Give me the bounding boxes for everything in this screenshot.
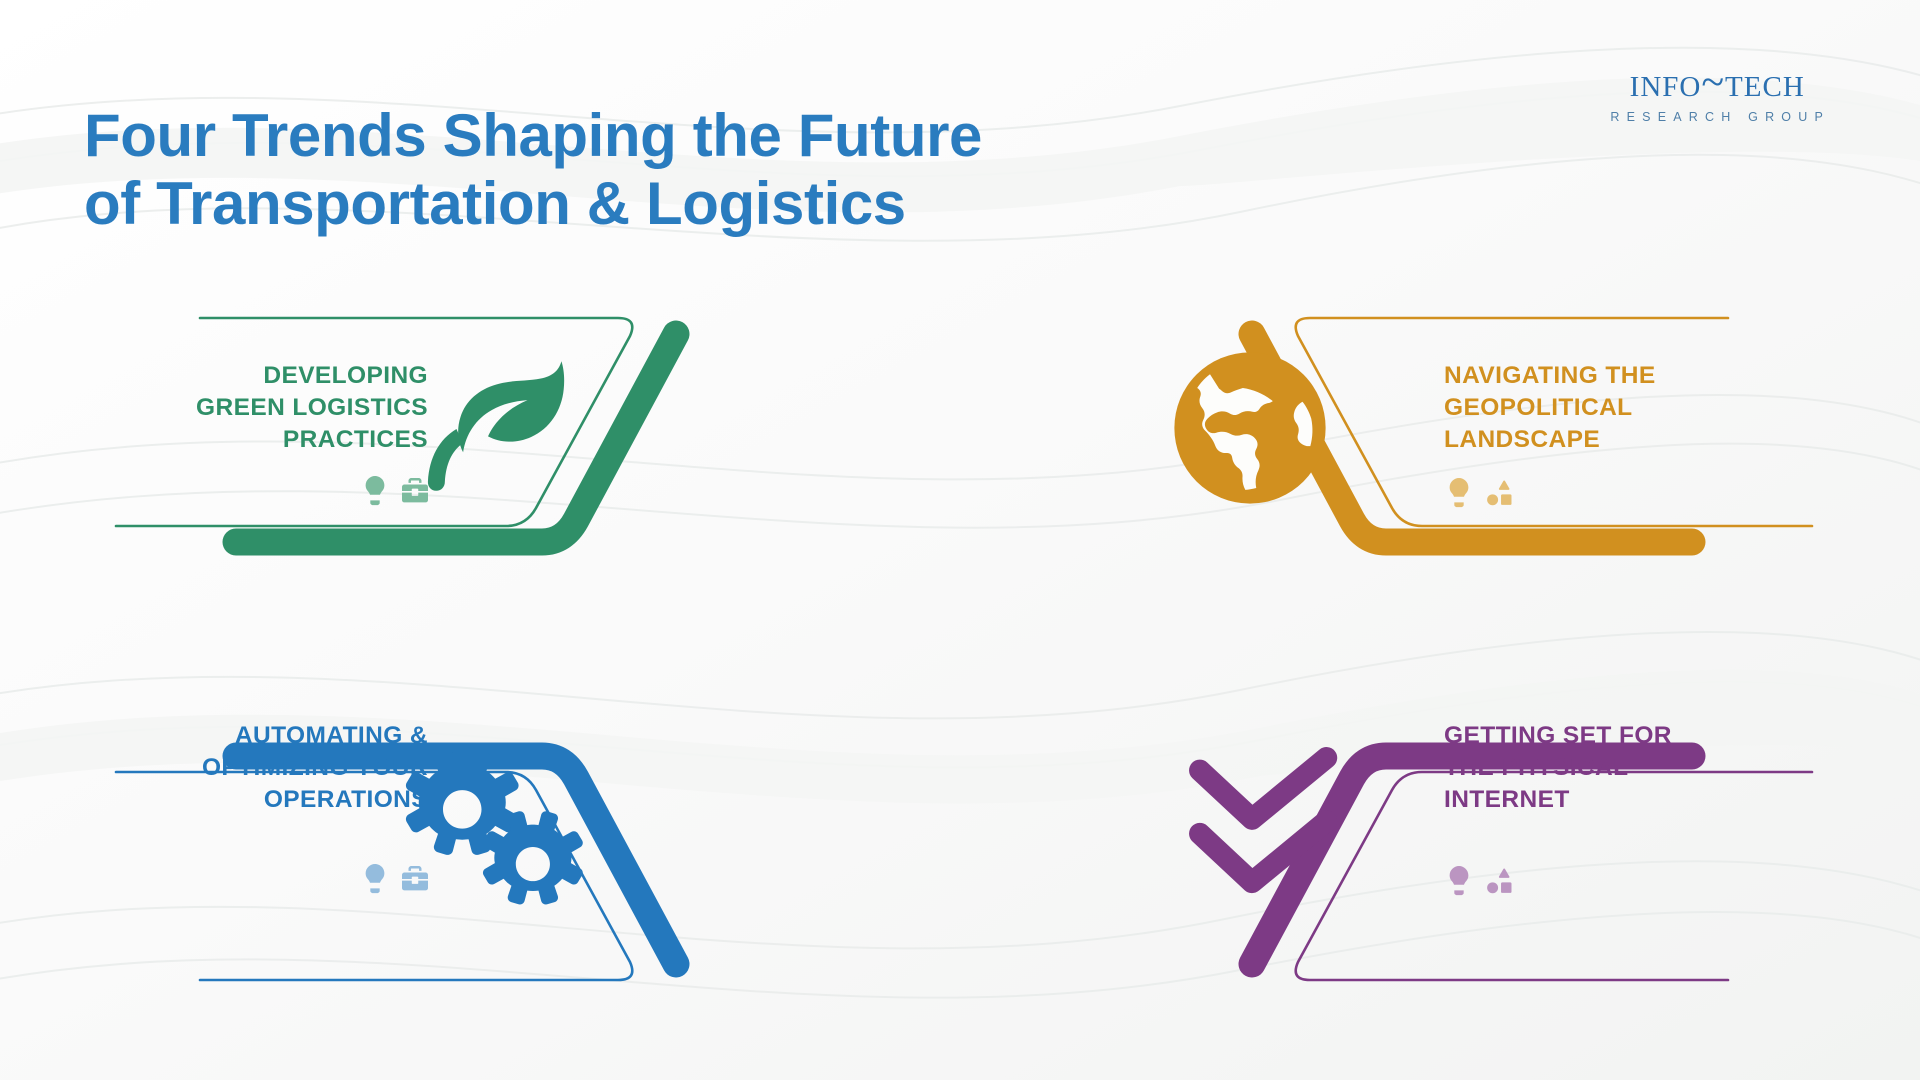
gears-icon	[398, 752, 598, 922]
card-badges-purple	[1446, 866, 1512, 896]
briefcase-icon	[402, 476, 428, 506]
lightbulb-icon	[1446, 478, 1472, 508]
briefcase-icon	[402, 864, 428, 894]
chevron-double-down-icon	[1178, 746, 1358, 906]
brand-logo-tagline: RESEARCH GROUP	[1604, 111, 1830, 124]
card-frame-orange	[1010, 308, 1820, 638]
header: Four Trends Shaping the Future of Transp…	[0, 0, 1920, 240]
shapes-icon	[1486, 478, 1512, 508]
card-badges-blue	[128, 864, 428, 894]
trend-card-blue[interactable]: AUTOMATING & OPTIMIZING YOUR OPERATIONS	[108, 662, 918, 992]
brand-logo-wordmark: Info~Tech	[1604, 62, 1830, 104]
trend-card-purple[interactable]: GETTING SET FOR THE PHYSICAL INTERNET	[1010, 662, 1820, 992]
lightbulb-icon	[362, 864, 388, 894]
page-title: Four Trends Shaping the Future of Transp…	[84, 102, 1404, 238]
trend-card-orange[interactable]: NAVIGATING THE GEOPOLITICAL LANDSCAPE	[1010, 308, 1820, 638]
brand-logo: Info~Tech RESEARCH GROUP	[1604, 62, 1830, 124]
leaf-icon	[408, 350, 578, 520]
lightbulb-icon	[1446, 866, 1472, 896]
trend-card-green[interactable]: DEVELOPING GREEN LOGISTICS PRACTICES	[108, 308, 918, 638]
shapes-icon	[1486, 866, 1512, 896]
globe-icon	[1170, 348, 1330, 508]
card-label-blue: AUTOMATING & OPTIMIZING YOUR OPERATIONS	[128, 720, 428, 816]
card-frame-purple	[1010, 662, 1820, 992]
card-badges-orange	[1446, 478, 1512, 508]
card-label-orange: NAVIGATING THE GEOPOLITICAL LANDSCAPE	[1444, 360, 1764, 456]
card-label-purple: GETTING SET FOR THE PHYSICAL INTERNET	[1444, 720, 1764, 816]
card-badges-green	[128, 476, 428, 506]
card-label-green: DEVELOPING GREEN LOGISTICS PRACTICES	[128, 360, 428, 456]
lightbulb-icon	[362, 476, 388, 506]
